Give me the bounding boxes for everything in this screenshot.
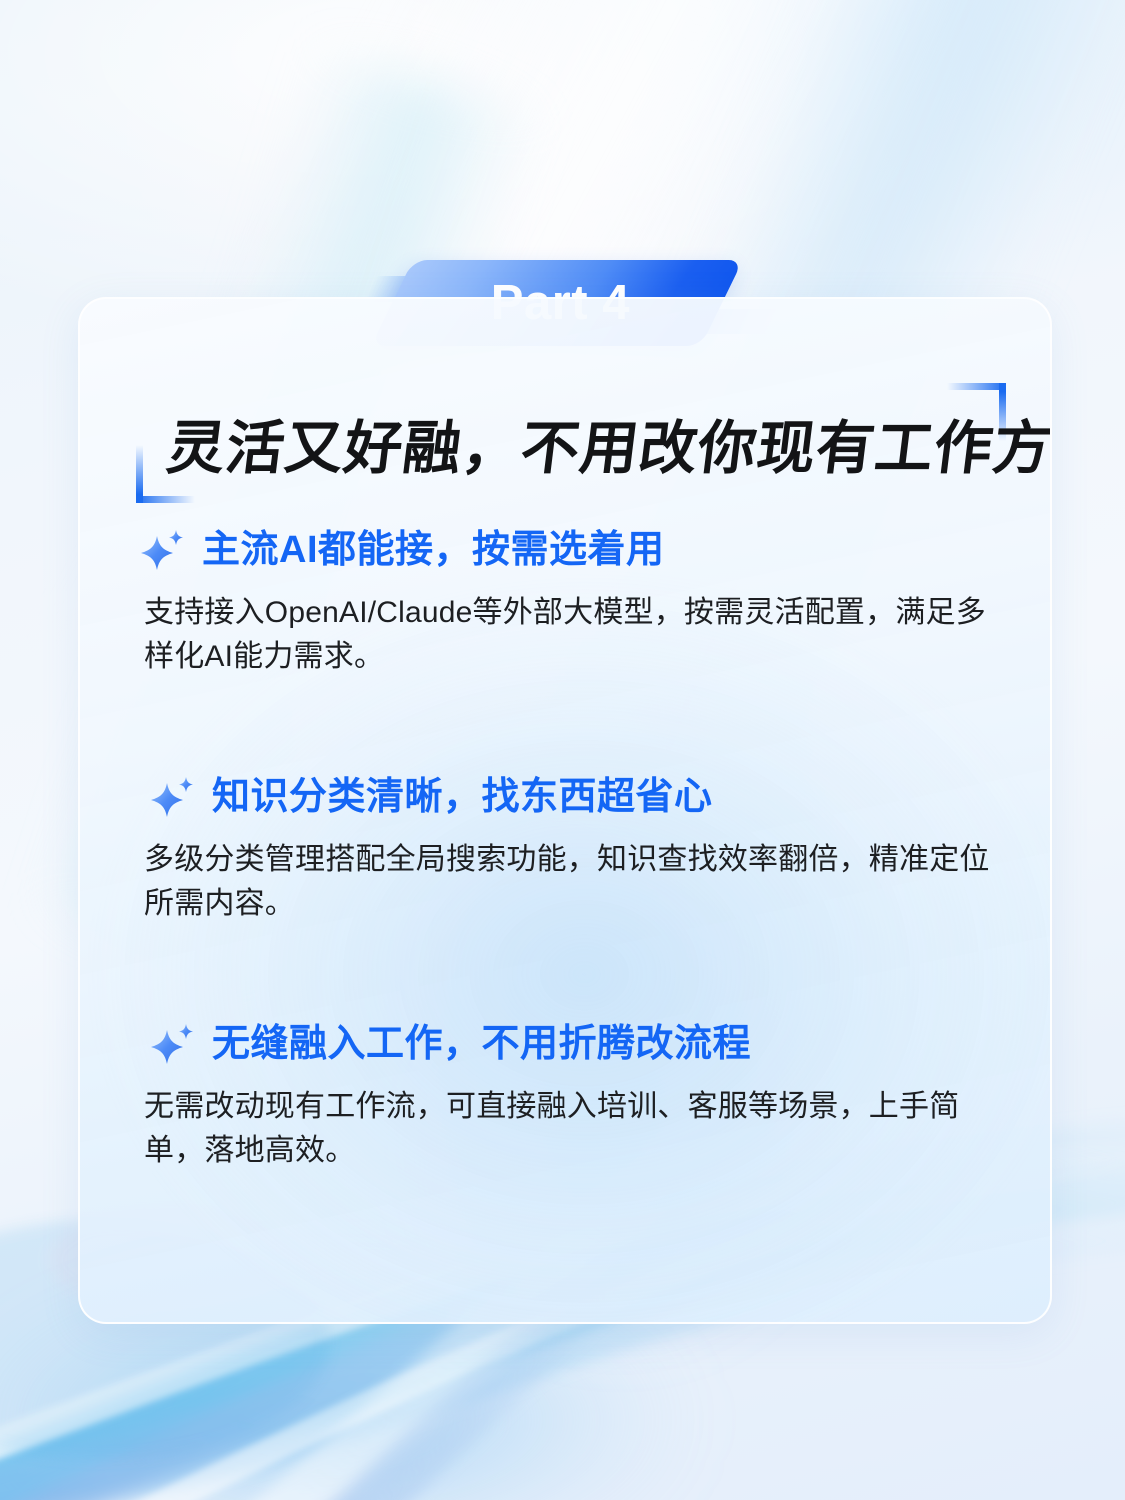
feature-title: 无缝融入工作，不用折腾改流程 (212, 1024, 751, 1066)
feature-body: 支持接入OpenAI/Claude等外部大模型，按需灵活配置，满足多样化AI能力… (138, 591, 994, 680)
feature-heading: 无缝融入工作，不用折腾改流程 (138, 1021, 1004, 1069)
feature-list: 主流AI都能接，按需选着用 支持接入OpenAI/Claude等外部大模型，按需… (138, 527, 1004, 1173)
feature-title: 主流AI都能接，按需选着用 (202, 530, 665, 572)
sparkle-icon (148, 1021, 196, 1069)
poster-slide: Part 4 灵活又好融，不用改你现有工作方式 (0, 0, 1125, 1500)
content-card: 灵活又好融，不用改你现有工作方式 (78, 297, 1052, 1324)
feature-body: 无需改动现有工作流，可直接融入培训、客服等场景，上手简单，落地高效。 (138, 1085, 994, 1174)
feature-heading: 知识分类清晰，找东西超省心 (138, 774, 1004, 822)
feature-title: 知识分类清晰，找东西超省心 (212, 777, 713, 819)
feature-item: 无缝融入工作，不用折腾改流程 无需改动现有工作流，可直接融入培训、客服等场景，上… (138, 1021, 1004, 1174)
card-title-block: 灵活又好融，不用改你现有工作方式 (136, 383, 1006, 503)
page-title: 灵活又好融，不用改你现有工作方式 (163, 401, 1052, 485)
sparkle-icon (138, 527, 186, 575)
feature-item: 主流AI都能接，按需选着用 支持接入OpenAI/Claude等外部大模型，按需… (138, 527, 1004, 680)
feature-body: 多级分类管理搭配全局搜索功能，知识查找效率翻倍，精准定位所需内容。 (138, 838, 994, 927)
sparkle-icon (148, 774, 196, 822)
feature-heading: 主流AI都能接，按需选着用 (138, 527, 1004, 575)
feature-item: 知识分类清晰，找东西超省心 多级分类管理搭配全局搜索功能，知识查找效率翻倍，精准… (138, 774, 1004, 927)
